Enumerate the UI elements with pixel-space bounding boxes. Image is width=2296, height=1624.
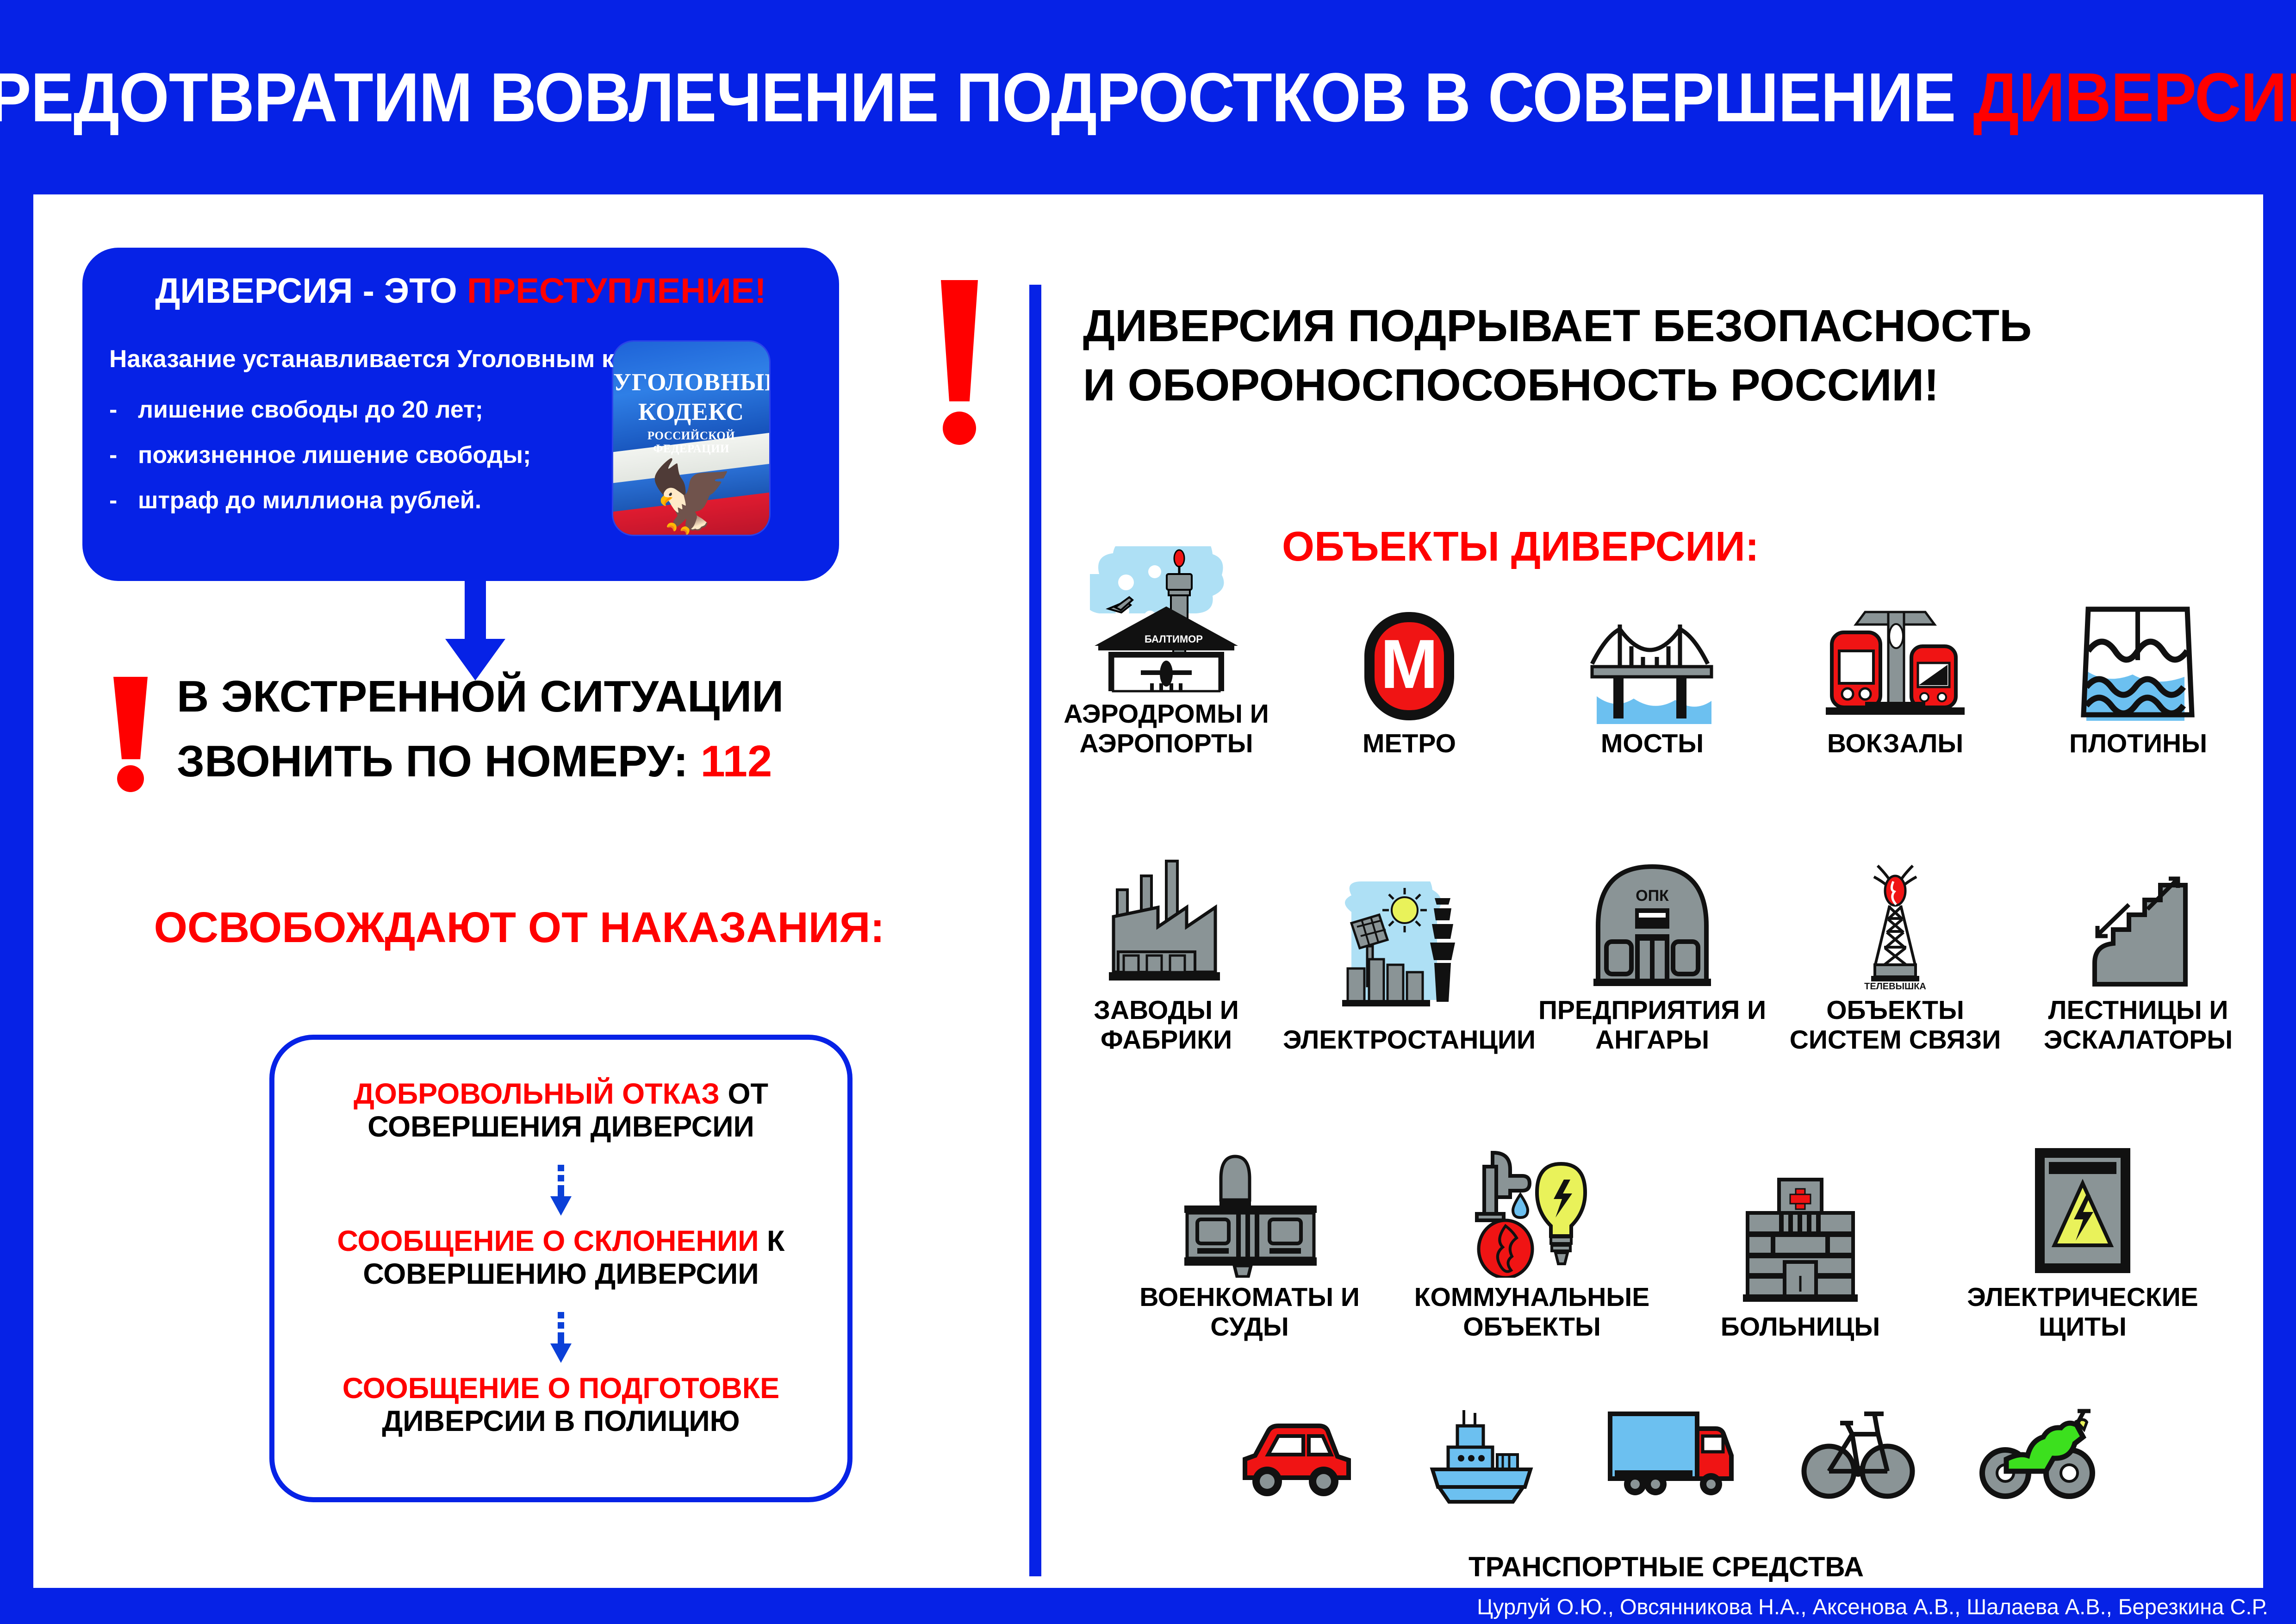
step-highlight: ДОБРОВОЛЬНЫЙ ОТКАЗ [354,1078,728,1110]
down-arrow-icon [441,581,510,681]
object-cell-tv-tower: ТЕЛЕВЫШКА ОБЪЕКТЫ СИСТЕМ СВЯЗИ [1780,843,2011,1055]
courthouse-icon [1173,1130,1326,1278]
criminal-code-book-icon: УГОЛОВНЫЙ КОДЕКС РОССИЙСКОЙ ФЕДЕРАЦИИ 🦅 [613,342,769,535]
object-cell-escalator: ЛЕСТНИЦЫ И ЭСКАЛАТОРЫ [2022,843,2254,1055]
object-row-2: ЗАВОДЫ И ФАБРИКИ [1051,843,2254,1055]
hangar-label-text: ОПК [1636,887,1669,905]
emergency-line-1: В ЭКСТРЕННОЙ СИТУАЦИИ [177,671,784,722]
headline-line-1: ДИВЕРСИЯ ПОДРЫВАЕТ БЕЗОПАСНОСТЬ [1083,300,2032,351]
step-highlight: СООБЩЕНИЕ О СКЛОНЕНИИ [337,1225,767,1257]
object-cell-electrical-panel: ЭЛЕКТРИЧЕСКИЕ ЩИТЫ [1939,1130,2226,1342]
law-penalty-item: -пожизненное лишение свободы; [109,441,531,469]
airport-name-text: БАЛТИМОР [1145,633,1203,645]
object-cell-dam: ПЛОТИНЫ [2022,576,2254,758]
exemption-step: СООБЩЕНИЕ О ПОДГОТОВКЕ ДИВЕРСИИ В ПОЛИЦИ… [274,1372,847,1438]
page-title: ПРЕДОТВРАТИМ ВОВЛЕЧЕНИЕ ПОДРОСТКОВ В СОВ… [0,57,2296,137]
object-cell-bicycle [1782,1398,1935,1509]
object-cell-truck [1583,1398,1759,1509]
book-title-line2: КОДЕКС [613,398,769,426]
emergency-call-block: В ЭКСТРЕННОЙ СИТУАЦИИ ЗВОНИТЬ ПО НОМЕРУ:… [66,671,991,824]
security-headline-block: ДИВЕРСИЯ ПОДРЫВАЕТ БЕЗОПАСНОСТЬ И ОБОРОН… [1041,280,2263,465]
bullet-dash-icon: - [109,396,138,424]
airport-icon: БАЛТИМОР [1090,546,1243,694]
headline-line-2: И ОБОРОНОСПОСОБНОСТЬ РОССИИ! [1083,360,1939,410]
object-label: МЕТРО [1363,729,1456,758]
step-line2: СОВЕРШЕНИЯ ДИВЕРСИИ [367,1111,754,1143]
hospital-icon [1731,1159,1870,1307]
ship-icon [1423,1398,1539,1505]
object-cell-bridge: МОСТЫ [1537,576,1768,758]
dam-icon [2078,576,2198,724]
object-label: ЗАВОДЫ И ФАБРИКИ [1051,995,1282,1055]
hangar-icon: ОПК [1585,843,1719,991]
double-headed-eagle-icon: 🦅 [648,462,734,531]
title-main: ПРЕДОТВРАТИМ ВОВЛЕЧЕНИЕ ПОДРОСТКОВ В СОВ… [0,58,1973,136]
object-label: ВОКЗАЛЫ [1827,729,1963,758]
bullet-dash-icon: - [109,441,138,469]
law-penalty-item: -лишение свободы до 20 лет; [109,396,483,424]
emergency-phone-number: 112 [700,737,772,786]
law-title-main: ДИВЕРСИЯ - ЭТО [155,271,467,311]
bullet-dash-icon: - [109,487,138,514]
title-accent: ДИВЕРСИЙ! [1973,58,2296,136]
metro-letter-m: M [1381,625,1438,703]
right-column: ДИВЕРСИЯ ПОДРЫВАЕТ БЕЗОПАСНОСТЬ И ОБОРОН… [1041,194,2263,1588]
exemption-step: СООБЩЕНИЕ О СКЛОНЕНИИ К СОВЕРШЕНИЮ ДИВЕР… [274,1225,847,1291]
footer-credits: Цурлуй О.Ю., Овсянникова Н.А., Аксенова … [1477,1594,2268,1619]
object-cell-power-plant: ЭЛЕКТРОСТАНЦИИ [1294,872,1525,1055]
transport-section-label: ТРАНСПОРТНЫЕ СРЕДСТВА [1213,1551,2120,1583]
exclamation-mark-icon [937,280,981,447]
object-cell-courthouse: ВОЕНКОМАТЫ И СУДЫ [1106,1130,1393,1342]
left-column: ДИВЕРСИЯ - ЭТО ПРЕСТУПЛЕНИЕ! Наказание у… [33,194,1028,1588]
car-icon [1236,1398,1356,1505]
object-row-4-transport [1213,1398,2120,1509]
motorcycle-icon [1979,1398,2099,1505]
object-label: ЭЛЕКТРОСТАНЦИИ [1283,1025,1536,1055]
column-divider [1029,285,1041,1576]
dotted-down-arrow-icon [550,1165,572,1216]
bridge-icon [1583,576,1722,724]
poster-title-bar: ПРЕДОТВРАТИМ ВОВЛЕЧЕНИЕ ПОДРОСТКОВ В СОВ… [0,0,2296,194]
object-label: ПЛОТИНЫ [2069,729,2207,758]
emergency-line-2: ЗВОНИТЬ ПО НОМЕРУ: 112 [177,736,772,787]
object-row-1: БАЛТИМОР АЭРОДРОМЫ И АЭРОПОРТЫ [1051,546,2254,759]
exemption-header: ОСВОБОЖДАЮТ ОТ НАКАЗАНИЯ: [33,903,1005,952]
object-label: МОСТЫ [1601,729,1704,758]
exemption-step: ДОБРОВОЛЬНЫЙ ОТКАЗ ОТ СОВЕРШЕНИЯ ДИВЕРСИ… [274,1078,847,1143]
object-cell-utilities: КОММУНАЛЬНЫЕ ОБЪЕКТЫ [1402,1130,1661,1342]
object-cell-metro: M МЕТРО [1294,576,1525,758]
law-box-title: ДИВЕРСИЯ - ЭТО ПРЕСТУПЛЕНИЕ! [82,271,839,311]
object-label: ОБЪЕКТЫ СИСТЕМ СВЯЗИ [1780,995,2011,1055]
escalator-icon [2078,843,2198,991]
emergency-prefix: ЗВОНИТЬ ПО НОМЕРУ: [177,737,700,786]
object-cell-hangar: ОПК ПРЕДПРИЯТИЯ И АНГАРЫ [1537,843,1768,1055]
law-info-box: ДИВЕРСИЯ - ЭТО ПРЕСТУПЛЕНИЕ! Наказание у… [82,248,839,581]
poster-root: ПРЕДОТВРАТИМ ВОВЛЕЧЕНИЕ ПОДРОСТКОВ В СОВ… [0,0,2296,1624]
railway-station-icon [1819,576,1972,724]
law-penalty-item: -штраф до миллиона рублей. [109,487,481,514]
book-title-line1: УГОЛОВНЫЙ [613,369,769,396]
factory-icon [1106,843,1226,991]
law-penalty-text: лишение свободы до 20 лет; [138,396,483,423]
exemption-steps-box: ДОБРОВОЛЬНЫЙ ОТКАЗ ОТ СОВЕРШЕНИЯ ДИВЕРСИ… [269,1035,852,1502]
object-cell-motorcycle [1958,1398,2120,1509]
object-cell-factory: ЗАВОДЫ И ФАБРИКИ [1051,843,1282,1055]
object-row-3: ВОЕНКОМАТЫ И СУДЫ [1106,1130,2226,1342]
exclamation-mark-icon [110,677,151,793]
utilities-icon [1456,1130,1608,1278]
bicycle-icon [1800,1398,1916,1505]
object-cell-car [1213,1398,1379,1509]
step-rest: ОТ [728,1078,769,1110]
dotted-down-arrow-icon [550,1312,572,1363]
tv-tower-icon: ТЕЛЕВЫШКА [1844,843,1946,991]
object-label: ВОЕНКОМАТЫ И СУДЫ [1106,1282,1393,1342]
object-cell-hospital: БОЛЬНИЦЫ [1671,1159,1930,1342]
power-plant-icon [1333,872,1486,1020]
step-rest: К [767,1225,784,1257]
book-title-line3: РОССИЙСКОЙ ФЕДЕРАЦИИ [613,430,769,456]
security-headline: ДИВЕРСИЯ ПОДРЫВАЕТ БЕЗОПАСНОСТЬ И ОБОРОН… [1083,296,2032,415]
object-cell-airport: БАЛТИМОР АЭРОДРОМЫ И АЭРОПОРТЫ [1051,546,1282,759]
object-label: БОЛЬНИЦЫ [1721,1312,1880,1342]
content-panel: ДИВЕРСИЯ - ЭТО ПРЕСТУПЛЕНИЕ! Наказание у… [33,194,2263,1588]
object-cell-railway: ВОКЗАЛЫ [1780,576,2011,758]
law-penalty-text: штраф до миллиона рублей. [138,487,481,514]
object-label: ПРЕДПРИЯТИЯ И АНГАРЫ [1537,995,1768,1055]
tv-tower-label-text: ТЕЛЕВЫШКА [1864,981,1926,991]
object-cell-ship [1402,1398,1560,1509]
law-penalty-text: пожизненное лишение свободы; [138,442,531,468]
object-label: КОММУНАЛЬНЫЕ ОБЪЕКТЫ [1402,1282,1661,1342]
step-line2: ДИВЕРСИИ В ПОЛИЦИЮ [382,1405,740,1437]
truck-icon [1604,1398,1738,1505]
object-label: АЭРОДРОМЫ И АЭРОПОРТЫ [1051,699,1282,759]
metro-icon: M [1361,576,1458,724]
object-label: ЭЛЕКТРИЧЕСКИЕ ЩИТЫ [1939,1282,2226,1342]
step-line2: СОВЕРШЕНИЮ ДИВЕРСИИ [363,1258,759,1290]
electrical-panel-icon [2025,1130,2140,1278]
law-title-accent: ПРЕСТУПЛЕНИЕ! [467,271,766,311]
step-highlight: СООБЩЕНИЕ О ПОДГОТОВКЕ [342,1372,779,1405]
object-label: ЛЕСТНИЦЫ И ЭСКАЛАТОРЫ [2022,995,2254,1055]
